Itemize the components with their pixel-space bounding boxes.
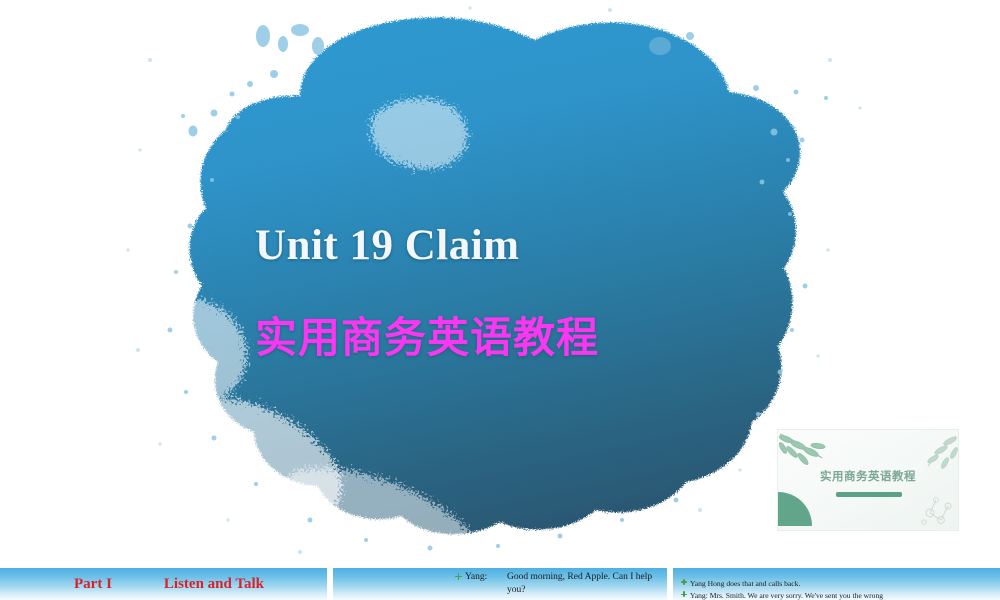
diamond-bullet-icon xyxy=(681,579,687,585)
dialogue-line: Yang: Good morning, Red Apple. Can I hel… xyxy=(455,571,663,597)
dialogue-text: Yang: Mrs. Smith. We are very sorry. We'… xyxy=(690,590,996,600)
cover-thumbnail-title: 实用商务英语教程 xyxy=(778,468,958,484)
book-cover-thumbnail[interactable]: 实用商务英语教程 xyxy=(778,430,958,530)
slide-canvas: Unit 19 Claim 实用商务英语教程 xyxy=(0,0,1000,600)
title-block: Unit 19 Claim 实用商务英语教程 xyxy=(255,222,815,361)
part-number-label: Part I xyxy=(74,576,112,593)
part-topic-label: Listen and Talk xyxy=(164,576,264,593)
cover-underline-rule xyxy=(836,492,902,497)
dialogue-text: Good morning, Red Apple. Can I help you? xyxy=(507,571,663,597)
dialogue-line: Yang: Mrs. Smith. We are very sorry. We'… xyxy=(681,590,996,600)
dialogue-speaker: Yang: xyxy=(465,571,507,584)
page-subtitle: 实用商务英语教程 xyxy=(255,315,815,361)
flower-cluster-decoration xyxy=(922,498,951,525)
dialogue-excerpt-panel-2[interactable]: Yang Hong does that and calls back. Yang… xyxy=(673,568,1000,600)
leaf-icon-left xyxy=(778,434,825,466)
dialogue-excerpt-panel-1[interactable]: Yang: Good morning, Red Apple. Can I hel… xyxy=(333,568,667,600)
quarter-circle-shape xyxy=(778,492,812,526)
bottom-strip: Part I Listen and Talk Yang: Good mornin… xyxy=(0,568,1000,600)
diamond-bullet-icon xyxy=(455,573,462,580)
dialogue-text: Yang Hong does that and calls back. xyxy=(690,578,996,589)
part-heading-panel[interactable]: Part I Listen and Talk xyxy=(0,568,327,600)
page-title: Unit 19 Claim xyxy=(255,222,815,270)
diamond-bullet-icon xyxy=(681,591,687,597)
leaf-icon-right xyxy=(927,436,958,470)
dialogue-line: Yang Hong does that and calls back. xyxy=(681,578,996,589)
